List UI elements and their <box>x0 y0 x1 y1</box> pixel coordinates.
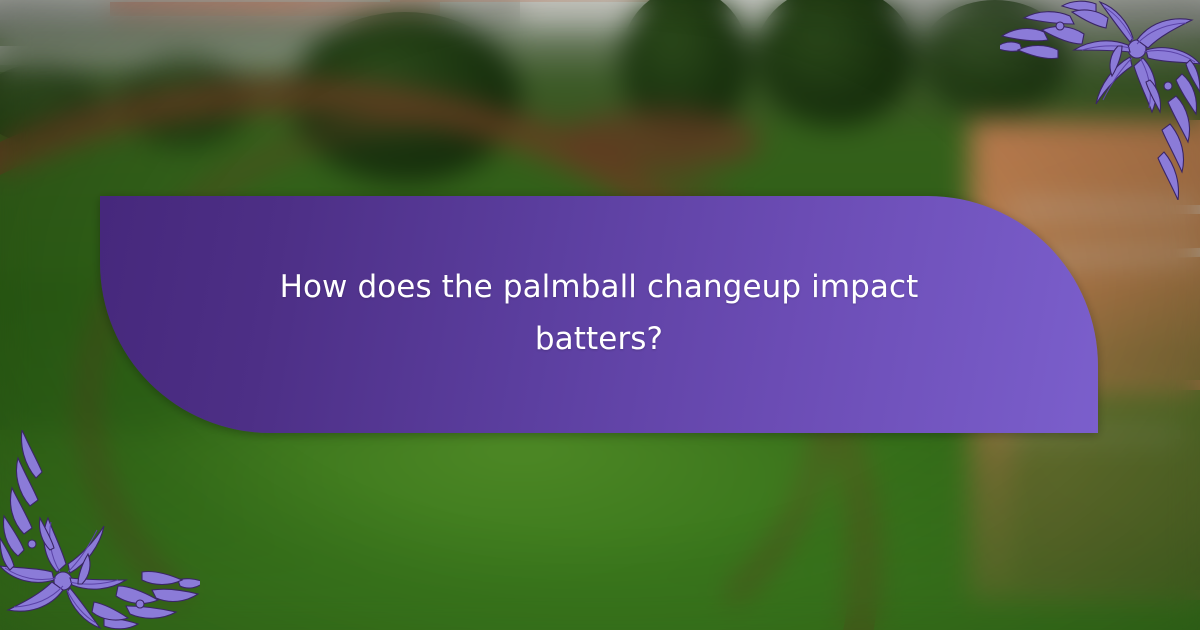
floral-ornament-icon <box>1000 0 1200 200</box>
floral-ornament-icon <box>0 430 200 630</box>
headline-banner: How does the palmball changeup impact ba… <box>100 196 1098 433</box>
page-title: How does the palmball changeup impact ba… <box>244 261 954 369</box>
share-card: How does the palmball changeup impact ba… <box>0 0 1200 630</box>
